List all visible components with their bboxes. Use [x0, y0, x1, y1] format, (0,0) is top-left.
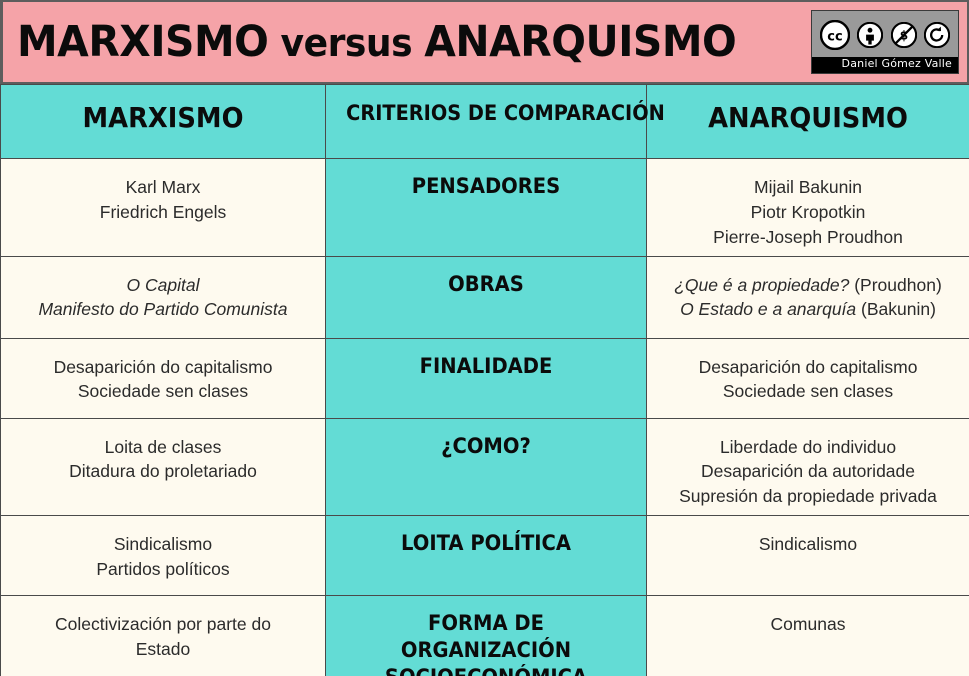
cc-icon-row: cc $ [812, 11, 958, 57]
criterion-label: FORMA DE ORGANIZACIÓN SOCIOECONÓMICA [345, 606, 628, 676]
page-title: MARXISMO versus ANARQUISMO [17, 17, 736, 67]
cell-anarquismo-como: Liberdade do individuo Desaparición da a… [647, 418, 969, 516]
cell-marxismo-finalidade: Desaparición do capitalismo Sociedade se… [1, 338, 326, 418]
list-item: ¿Que é a propiedade? (Proudhon) [655, 273, 961, 298]
title-secondary: ANARQUISMO [424, 17, 736, 67]
header-marxismo: MARXISMO [21, 101, 304, 134]
title-connector-text: versus [281, 21, 413, 65]
list-item: Friedrich Engels [9, 200, 317, 225]
list-item: Ditadura do proletariado [9, 459, 317, 484]
list-item: Estado [9, 637, 317, 662]
cell-text: Sindicalismo [655, 526, 961, 557]
header-cell-middle: CRITERIOS DE COMPARACIÓN [326, 85, 647, 159]
criterion-label: FINALIDADE [345, 349, 628, 380]
criterion-line: SOCIOECONÓMICA [345, 664, 628, 676]
cell-text: Comunas [655, 606, 961, 637]
list-item: Partidos políticos [9, 557, 317, 582]
sa-share-alike-icon [924, 22, 950, 48]
cell-anarquismo-loita-politica: Sindicalismo [647, 516, 969, 596]
title-space [412, 21, 424, 65]
license-author: Daniel Gómez Valle [812, 57, 958, 73]
table-row: Loita de clases Ditadura do proletariado… [1, 418, 969, 516]
infographic-page: MARXISMO versus ANARQUISMO cc [0, 0, 969, 676]
title-main: MARXISMO [17, 17, 268, 67]
nc-no-money-icon: $ [891, 22, 917, 48]
cell-text: Sindicalismo Partidos políticos [9, 526, 317, 582]
cell-criterio-pensadores: PENSADORES [326, 159, 647, 257]
cell-text: O Capital Manifesto do Partido Comunista [9, 267, 317, 323]
table-row: Desaparición do capitalismo Sociedade se… [1, 338, 969, 418]
list-item: O Estado e a anarquía (Bakunin) [655, 297, 961, 322]
cell-anarquismo-pensadores: Mijail Bakunin Piotr Kropotkin Pierre-Jo… [647, 159, 969, 257]
header-anarquismo: ANARQUISMO [667, 101, 949, 134]
criterion-label: LOITA POLÍTICA [345, 526, 628, 557]
cell-criterio-loita-politica: LOITA POLÍTICA [326, 516, 647, 596]
list-item: Sindicalismo [9, 532, 317, 557]
title-banner: MARXISMO versus ANARQUISMO cc [0, 0, 969, 84]
list-item: Liberdade do individuo [655, 435, 961, 460]
comparison-table: MARXISMO CRITERIOS DE COMPARACIÓN ANARQU… [0, 84, 969, 676]
list-item: Sociedade sen clases [9, 379, 317, 404]
title-connector [268, 21, 280, 65]
header-cell-right: ANARQUISMO [647, 85, 969, 159]
work-title: ¿Que é a propiedade? [674, 275, 849, 295]
cell-marxismo-organizacion: Colectivización por parte do Estado [1, 596, 326, 676]
criterion-label: OBRAS [345, 267, 628, 298]
creative-commons-badge: cc $ [811, 10, 959, 74]
cell-text: Desaparición do capitalismo Sociedade se… [9, 349, 317, 405]
list-item: Desaparición do capitalismo [655, 355, 961, 380]
table-row: O Capital Manifesto do Partido Comunista… [1, 256, 969, 338]
cell-text: Karl Marx Friedrich Engels [9, 169, 317, 225]
table-row: Karl Marx Friedrich Engels PENSADORES Mi… [1, 159, 969, 257]
list-item: Manifesto do Partido Comunista [9, 297, 317, 322]
cell-marxismo-obras: O Capital Manifesto do Partido Comunista [1, 256, 326, 338]
cc-icon: cc [820, 20, 850, 50]
list-item: Sociedade sen clases [655, 379, 961, 404]
cell-text: Liberdade do individuo Desaparición da a… [655, 429, 961, 510]
criterion-label: PENSADORES [345, 169, 628, 200]
list-item: Supresión da propiedade privada [655, 484, 961, 509]
criterion-label: ¿COMO? [345, 429, 628, 460]
list-item: Desaparición da autoridade [655, 459, 961, 484]
list-item: Comunas [655, 612, 961, 637]
list-item: Sindicalismo [655, 532, 961, 557]
cell-text: Desaparición do capitalismo Sociedade se… [655, 349, 961, 405]
cell-criterio-organizacion: FORMA DE ORGANIZACIÓN SOCIOECONÓMICA [326, 596, 647, 676]
table-header-row: MARXISMO CRITERIOS DE COMPARACIÓN ANARQU… [1, 85, 969, 159]
cell-anarquismo-finalidade: Desaparición do capitalismo Sociedade se… [647, 338, 969, 418]
header-cell-left: MARXISMO [1, 85, 326, 159]
cell-criterio-finalidade: FINALIDADE [326, 338, 647, 418]
table-row: Sindicalismo Partidos políticos LOITA PO… [1, 516, 969, 596]
header-criterios: CRITERIOS DE COMPARACIÓN [346, 101, 626, 125]
list-item: Karl Marx [9, 175, 317, 200]
svg-text:cc: cc [827, 30, 842, 45]
cell-anarquismo-obras: ¿Que é a propiedade? (Proudhon) O Estado… [647, 256, 969, 338]
work-author: (Proudhon) [849, 275, 941, 295]
cell-marxismo-pensadores: Karl Marx Friedrich Engels [1, 159, 326, 257]
by-person-icon [857, 22, 883, 48]
cell-anarquismo-organizacion: Comunas [647, 596, 969, 676]
work-author: (Bakunin) [856, 299, 936, 319]
cell-text: Colectivización por parte do Estado [9, 606, 317, 662]
list-item: Mijail Bakunin [655, 175, 961, 200]
table-row: Colectivización por parte do Estado FORM… [1, 596, 969, 676]
work-title: O Estado e a anarquía [680, 299, 856, 319]
cell-marxismo-como: Loita de clases Ditadura do proletariado [1, 418, 326, 516]
list-item: Colectivización por parte do [9, 612, 317, 637]
cell-text: Mijail Bakunin Piotr Kropotkin Pierre-Jo… [655, 169, 961, 250]
cell-criterio-como: ¿COMO? [326, 418, 647, 516]
list-item: Loita de clases [9, 435, 317, 460]
list-item: Piotr Kropotkin [655, 200, 961, 225]
list-item: Pierre-Joseph Proudhon [655, 225, 961, 250]
criterion-line: FORMA DE ORGANIZACIÓN [345, 610, 628, 664]
list-item: Desaparición do capitalismo [9, 355, 317, 380]
cell-marxismo-loita-politica: Sindicalismo Partidos políticos [1, 516, 326, 596]
cell-text: ¿Que é a propiedade? (Proudhon) O Estado… [655, 267, 961, 323]
cell-criterio-obras: OBRAS [326, 256, 647, 338]
cell-text: Loita de clases Ditadura do proletariado [9, 429, 317, 485]
list-item: O Capital [9, 273, 317, 298]
